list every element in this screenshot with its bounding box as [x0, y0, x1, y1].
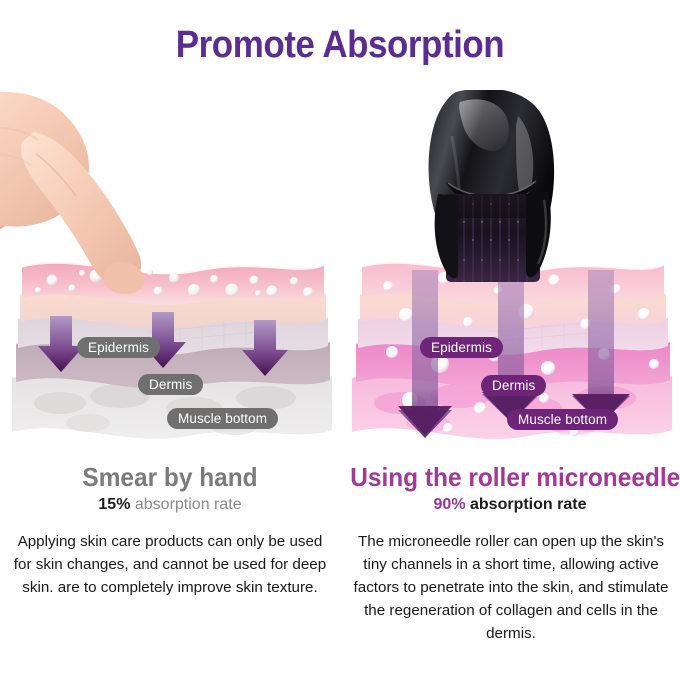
rate-label-right: absorption rate [470, 496, 586, 513]
caption-heading-right: Using the roller microneedle [350, 462, 670, 493]
illustration-smear-by-hand: Epidermis Dermis Muscle bottom [0, 80, 340, 455]
layer-label-muscle: Muscle bottom [507, 409, 618, 430]
comparison-columns: Epidermis Dermis Muscle bottom Smear by … [0, 80, 680, 680]
layer-label-epidermis: Epidermis [77, 337, 160, 358]
layer-label-dermis: Dermis [481, 375, 546, 396]
layer-label-epidermis: Epidermis [420, 337, 503, 358]
rate-value-left: 15% [98, 496, 130, 513]
layer-label-muscle: Muscle bottom [167, 408, 278, 429]
column-smear-by-hand: Epidermis Dermis Muscle bottom Smear by … [0, 80, 340, 680]
hand-pointing-icon [0, 84, 220, 299]
column-roller-microneedle: Epidermis Dermis Muscle bottom Using the… [340, 80, 680, 680]
caption-rate-right: 90% absorption rate [340, 496, 680, 514]
hand-svg [0, 84, 220, 299]
layer-label-dermis: Dermis [138, 374, 203, 395]
derma-roller-icon [398, 90, 608, 295]
page-title: Promote Absorption [27, 24, 653, 67]
caption-body-right: The microneedle roller can open up the s… [348, 530, 674, 645]
caption-body-left: Applying skin care products can only be … [12, 530, 328, 599]
rate-label-left: absorption rate [135, 496, 242, 513]
caption-heading-left: Smear by hand [10, 462, 330, 493]
caption-rate-left: 15% absorption rate [0, 496, 340, 514]
roller-svg [398, 90, 608, 295]
rate-value-right: 90% [434, 496, 466, 513]
illustration-roller-microneedle: Epidermis Dermis Muscle bottom [340, 80, 680, 455]
